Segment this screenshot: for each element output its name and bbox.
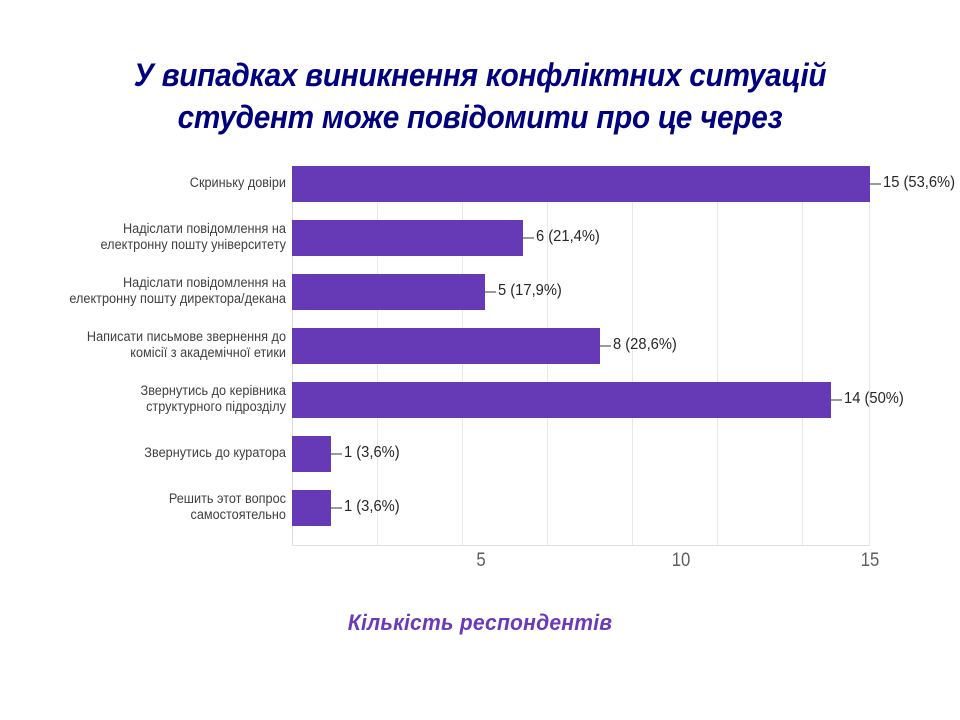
category-label-1: Надіслати повідомлення на електронну пош…: [17, 221, 286, 253]
bar-value-5: 1 (3,6%): [344, 444, 400, 462]
x-axis-line: [292, 545, 870, 546]
bar-value-6: 1 (3,6%): [344, 498, 400, 516]
bar-3[interactable]: [292, 328, 600, 364]
leader-line-5: [331, 453, 342, 455]
chart-title: У випадках виникнення конфліктних ситуац…: [34, 54, 927, 138]
leader-line-0: [870, 183, 881, 185]
leader-line-2: [485, 291, 496, 293]
category-label-3: Написати письмове звернення до комісії з…: [17, 329, 286, 361]
bar-value-1: 6 (21,4%): [536, 228, 600, 246]
bar-1[interactable]: [292, 220, 523, 256]
bar-5[interactable]: [292, 436, 331, 472]
x-tick-label-5: 5: [455, 549, 508, 573]
category-label-6: Решить этот вопрос самостоятельно: [17, 491, 286, 523]
bar-4[interactable]: [292, 382, 831, 418]
bar-0[interactable]: [292, 166, 870, 202]
category-label-2: Надіслати повідомлення на електронну пош…: [17, 275, 286, 307]
table-row: Звернутись до куратора 1 (3,6%): [0, 436, 960, 490]
bar-value-2: 5 (17,9%): [498, 282, 562, 300]
bar-value-0: 15 (53,6%): [883, 174, 955, 192]
x-tick-label-10: 10: [655, 549, 708, 573]
x-axis-caption: Кількість респондентів: [19, 610, 941, 636]
x-tick-label-15: 15: [844, 549, 897, 573]
leader-line-6: [331, 507, 342, 509]
bar-value-4: 14 (50%): [844, 390, 904, 408]
category-label-0: Скриньку довіри: [17, 175, 286, 191]
table-row: Решить этот вопрос самостоятельно 1 (3,6…: [0, 490, 960, 544]
table-row: Надіслати повідомлення на електронну пош…: [0, 220, 960, 274]
bar-value-3: 8 (28,6%): [613, 336, 677, 354]
table-row: Скриньку довіри 15 (53,6%): [0, 166, 960, 220]
leader-line-3: [600, 345, 611, 347]
table-row: Надіслати повідомлення на електронну пош…: [0, 274, 960, 328]
category-label-5: Звернутись до куратора: [17, 445, 286, 461]
category-label-4: Звернутись до керівника структурного під…: [17, 383, 286, 415]
table-row: Звернутись до керівника структурного під…: [0, 382, 960, 436]
leader-line-1: [523, 237, 534, 239]
table-row: Написати письмове звернення до комісії з…: [0, 328, 960, 382]
bar-2[interactable]: [292, 274, 485, 310]
leader-line-4: [831, 399, 842, 401]
bar-6[interactable]: [292, 490, 331, 526]
